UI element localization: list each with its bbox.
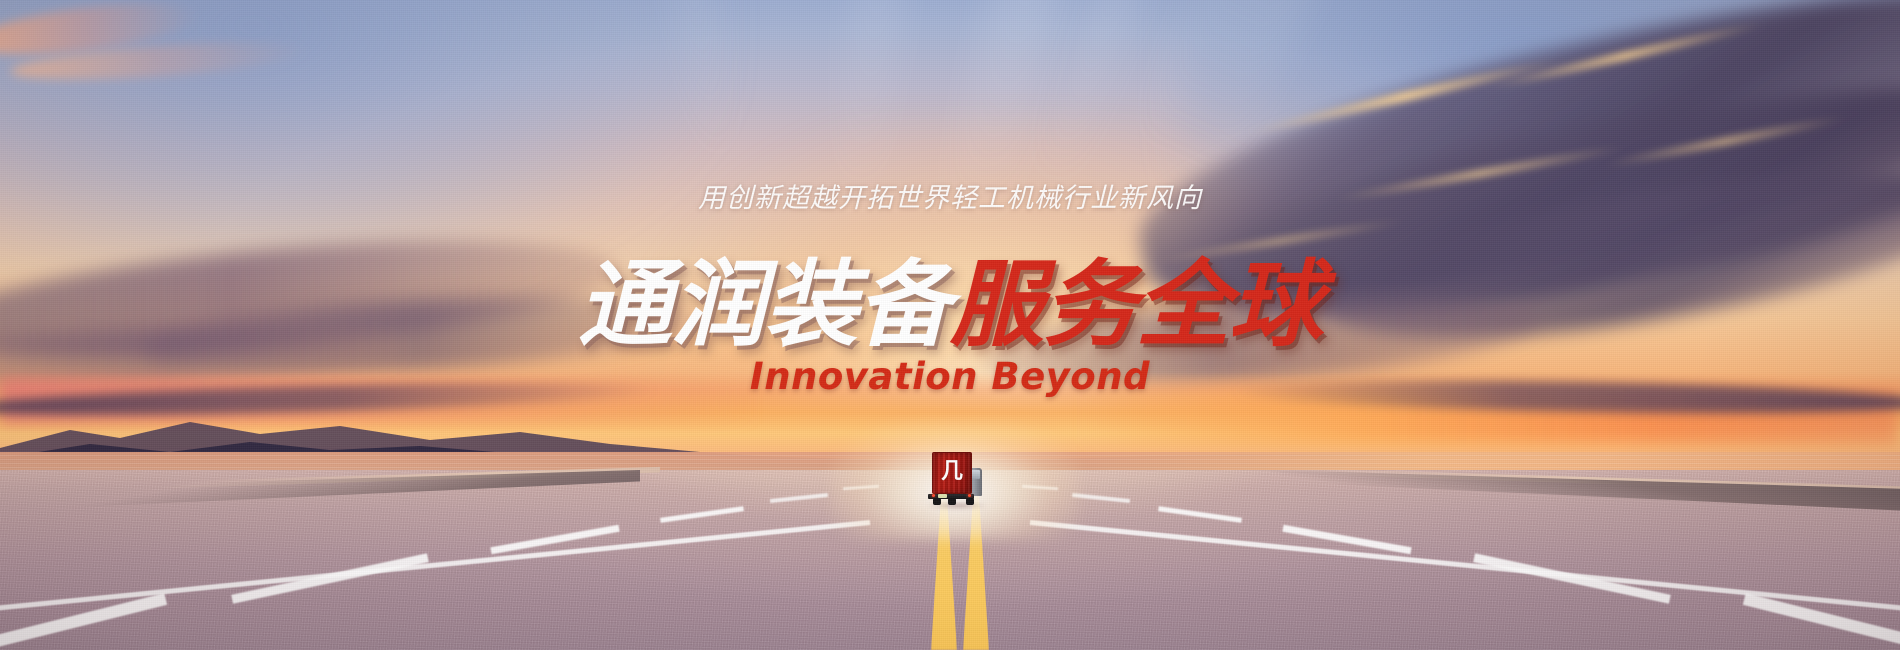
truck-wheel-front	[966, 498, 974, 505]
truck-wheel-mid	[948, 498, 956, 505]
truck-tail-light-left	[932, 494, 935, 497]
truck-tail-light-right	[968, 494, 971, 497]
truck-wheel-rear-left	[933, 498, 941, 505]
hero-banner: 几 用创新超越开拓世界轻工机械行业新风向 通润装备服务全球 Innovation…	[0, 0, 1900, 650]
truck-logo-icon: 几	[940, 459, 964, 485]
delivery-truck: 几	[926, 444, 988, 506]
